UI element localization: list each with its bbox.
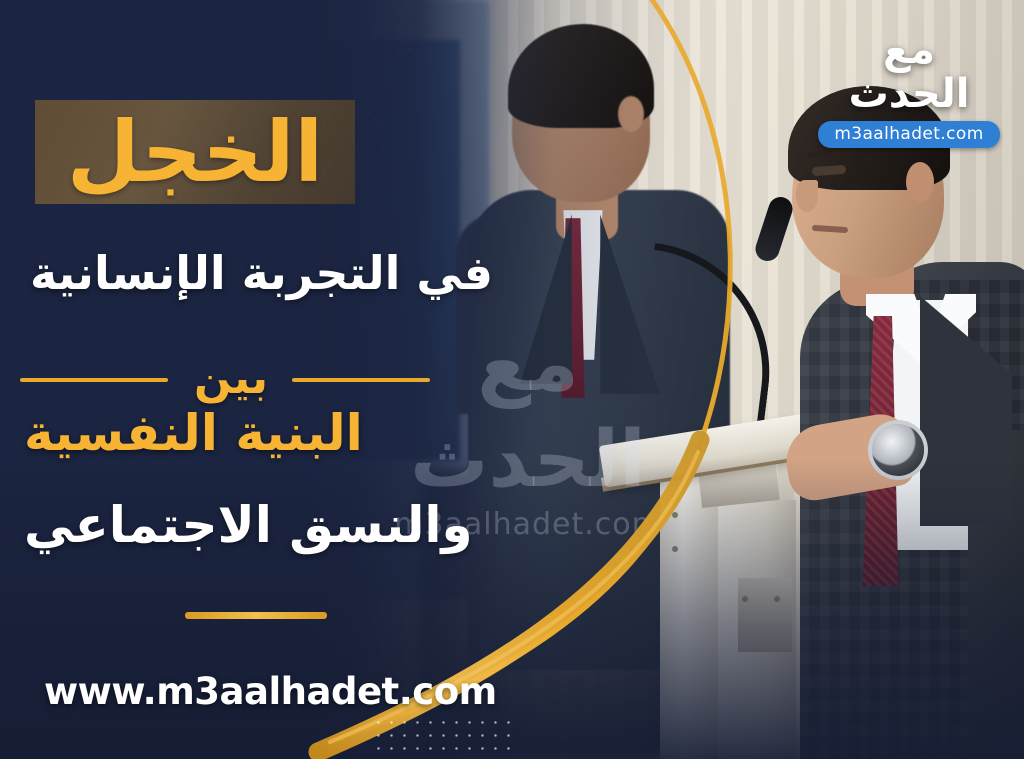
connector-rule-left — [20, 378, 168, 382]
connector-word: بين — [176, 352, 286, 406]
headline-panel: الخجل — [35, 100, 355, 204]
brand-domain-badge: m3aalhadet.com — [818, 121, 999, 148]
poster-canvas: ES edia erty — [0, 0, 1024, 759]
dot-grid-bottom-icon — [372, 716, 517, 750]
subtitle-line-3: والنسق الاجتماعي — [24, 496, 524, 554]
site-url[interactable]: www.m3aalhadet.com — [44, 670, 497, 713]
brand-logo[interactable]: مع الحدث m3aalhadet.com — [816, 28, 1002, 148]
gold-divider — [185, 612, 327, 619]
subtitle-line-2: البنية النفسية — [24, 404, 494, 462]
page-title: الخجل — [67, 110, 323, 194]
subtitle-line-1: في التجربة الإنسانية — [30, 246, 500, 300]
connector-row: بين — [0, 352, 430, 406]
brand-logo-arabic: مع الحدث — [816, 28, 1002, 116]
connector-rule-right — [292, 378, 430, 382]
